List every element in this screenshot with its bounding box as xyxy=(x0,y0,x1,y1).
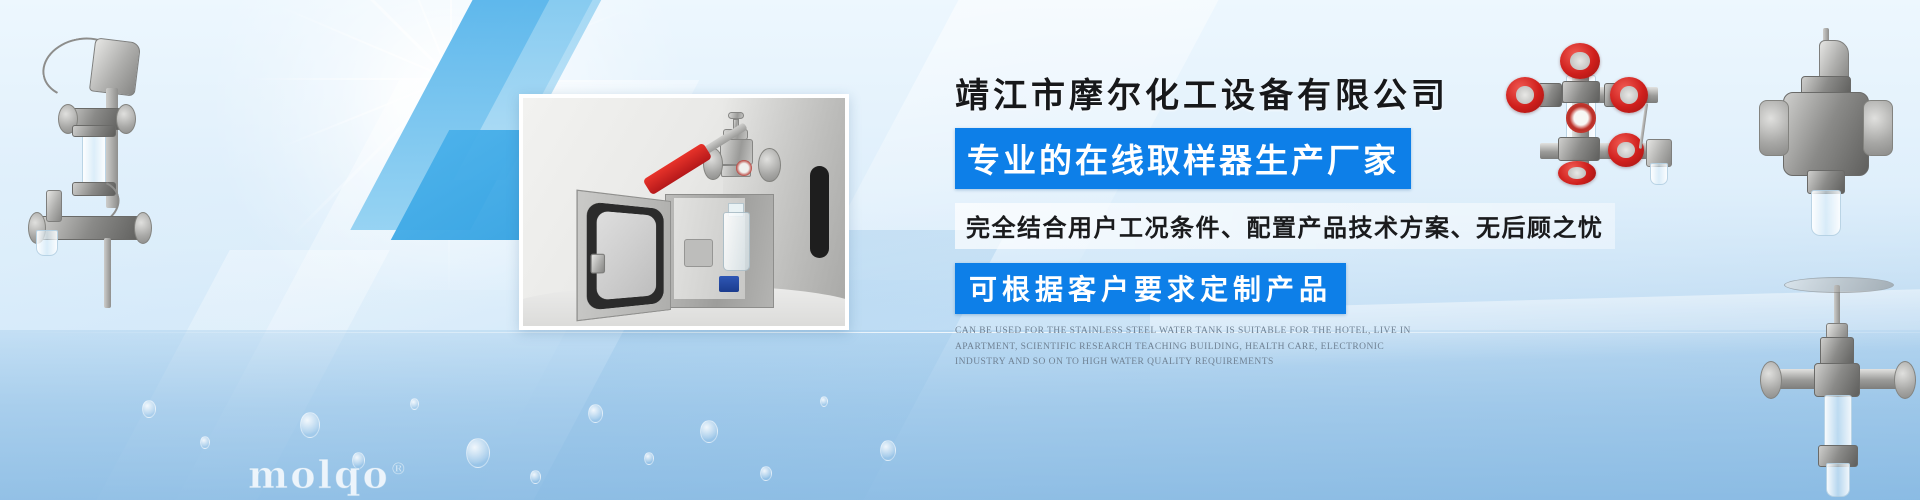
handwheel-right xyxy=(1610,77,1648,113)
door-lock xyxy=(591,253,605,273)
water-droplet xyxy=(530,470,541,484)
english-caption: CAN BE USED FOR THE STAINLESS STEEL WATE… xyxy=(955,324,1425,370)
subline-badge: 完全结合用户工况条件、配置产品技术方案、无后顾之忧 xyxy=(955,203,1615,249)
outlet-vial xyxy=(1826,463,1850,497)
relief-valve xyxy=(46,190,62,222)
cross-valve-manifold-render xyxy=(1500,35,1690,185)
cabinet-door xyxy=(577,189,672,321)
valve-body-lower xyxy=(1558,137,1600,161)
water-droplet xyxy=(588,404,603,423)
sampling-valve-unit-render xyxy=(1760,285,1920,500)
flange-left xyxy=(1759,100,1789,156)
drain-vial xyxy=(1650,163,1668,185)
handwheel-top xyxy=(1560,43,1600,79)
banner-stage: 靖江市摩尔化工设备有限公司 专业的在线取样器生产厂家 完全结合用户工况条件、配置… xyxy=(0,0,1920,500)
watermark-logo: molqo® xyxy=(248,452,409,497)
door-window xyxy=(597,210,656,300)
water-droplet xyxy=(466,438,490,468)
valve-main-body xyxy=(1783,92,1869,176)
flange xyxy=(134,212,152,244)
handwheel-bottom-right xyxy=(1608,133,1644,167)
certification-seal xyxy=(1566,103,1596,133)
brand-emblem xyxy=(736,160,752,176)
support-stem xyxy=(104,238,111,308)
flanged-valve-render xyxy=(1745,28,1915,258)
flange-left xyxy=(1760,361,1782,399)
registered-mark: ® xyxy=(390,459,409,479)
mounting-plate xyxy=(684,239,713,266)
flange-right xyxy=(1894,361,1916,399)
valve-body xyxy=(1814,363,1860,397)
sample-vial xyxy=(1811,190,1841,236)
flange-right xyxy=(1863,100,1893,156)
water-droplet xyxy=(410,398,419,410)
sample-bottle xyxy=(723,212,750,271)
blur-disc xyxy=(1784,277,1894,293)
tagline-badge: 可根据客户要求定制产品 xyxy=(955,263,1346,314)
product-photo xyxy=(523,98,845,326)
valve-block-mid xyxy=(72,125,116,137)
water-droplet xyxy=(760,466,772,481)
headline-badge: 专业的在线取样器生产厂家 xyxy=(955,128,1411,189)
flange xyxy=(116,104,136,134)
water-droplet xyxy=(700,420,718,443)
valve-body-center xyxy=(1562,81,1600,103)
flange-right xyxy=(758,148,781,182)
handwheel-bottom xyxy=(1558,161,1596,185)
water-droplet xyxy=(820,396,828,407)
water-droplet xyxy=(644,452,654,465)
water-droplet xyxy=(142,400,156,418)
collection-vessel xyxy=(36,230,58,256)
watermark-text: molqo xyxy=(248,452,390,497)
product-photo-frame[interactable] xyxy=(519,94,849,330)
handwheel-left xyxy=(1506,77,1544,113)
cabinet-handle xyxy=(810,166,829,257)
sight-tube xyxy=(1824,395,1852,451)
water-droplet xyxy=(300,412,320,438)
water-droplet xyxy=(880,440,896,461)
left-product-render xyxy=(20,30,170,310)
bottle-cap xyxy=(719,276,738,292)
water-droplet xyxy=(200,436,210,449)
